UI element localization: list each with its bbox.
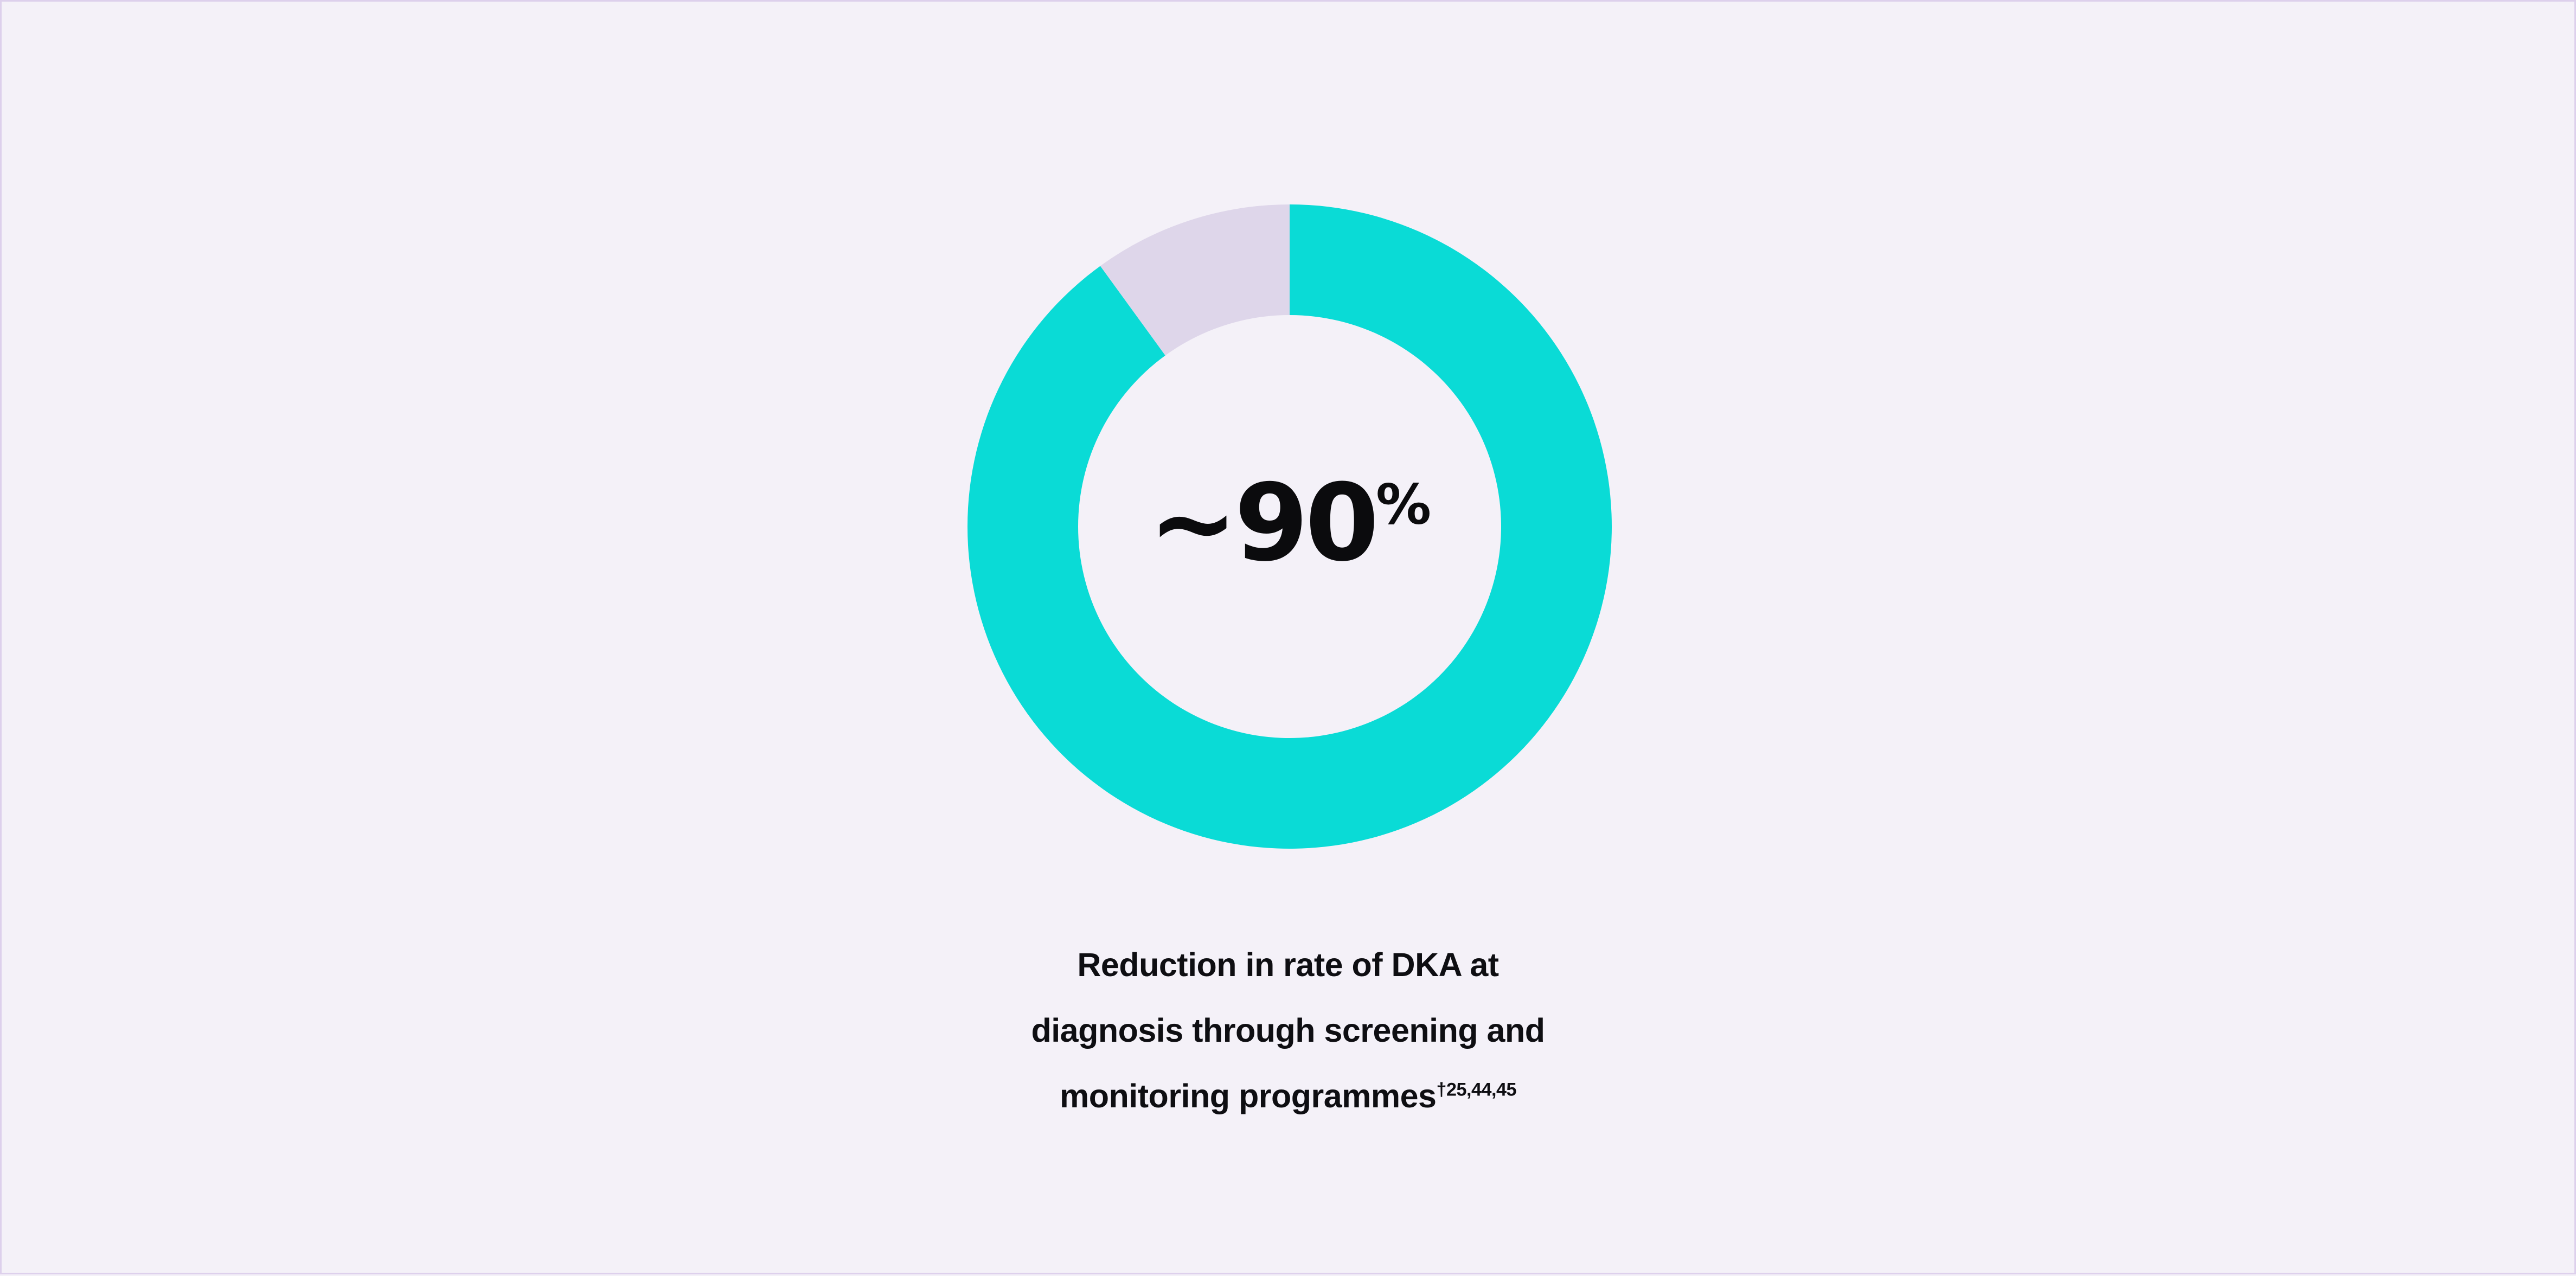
caption-line-2: diagnosis through screening and <box>827 998 1749 1063</box>
donut-chart <box>967 204 1612 849</box>
caption-line-3: monitoring programmes†25,44,45 <box>827 1063 1749 1129</box>
chart-caption: Reduction in rate of DKA at diagnosis th… <box>827 932 1749 1129</box>
caption-reference-marks: †25,44,45 <box>1437 1080 1516 1100</box>
donut-chart-svg <box>967 204 1612 849</box>
caption-line-1: Reduction in rate of DKA at <box>827 932 1749 998</box>
donut-slice-reduction <box>967 204 1612 849</box>
caption-line-3-text: monitoring programmes <box>1060 1078 1436 1114</box>
infographic-canvas: ~90% Reduction in rate of DKA at diagnos… <box>0 0 2576 1274</box>
